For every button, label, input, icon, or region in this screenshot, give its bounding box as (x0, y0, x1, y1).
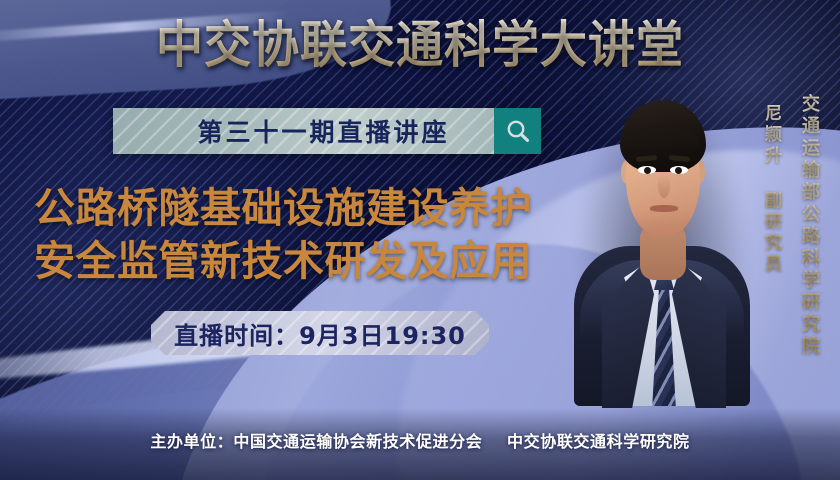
live-broadcast-poster: 中交协联交通科学大讲堂 中交协联交通科学大讲堂 第三十一期直播讲座 公路桥隧基础… (0, 0, 840, 480)
portrait-pupil-left (644, 167, 651, 174)
lecture-heading-line1: 公路桥隧基础设施建设养护 (34, 184, 532, 232)
lecture-heading: 公路桥隧基础设施建设养护 安全监管新技术研发及应用 (34, 182, 594, 288)
broadcast-time-pill: 直播时间：9月3日19:30 (151, 311, 489, 355)
episode-bar: 第三十一期直播讲座 (113, 108, 541, 154)
portrait-hair-fringe (626, 126, 700, 152)
lecture-heading-line2: 安全监管新技术研发及应用 (34, 235, 594, 288)
poster-title: 中交协联交通科学大讲堂 (0, 16, 840, 75)
speaker-name-title: 尼颖升 副研究员 (759, 104, 784, 275)
speaker-organization: 交通运输部公路科学研究院 (796, 94, 822, 358)
search-icon-tile[interactable] (494, 108, 541, 154)
speaker-portrait (574, 74, 750, 404)
portrait-nose (658, 174, 670, 198)
search-icon (505, 118, 531, 144)
episode-bar-body: 第三十一期直播讲座 (113, 108, 494, 154)
organizers-line: 主办单位：中国交通运输协会新技术促进分会 中交协联交通科学研究院 (0, 428, 840, 452)
portrait-chin-shadow (636, 210, 690, 236)
broadcast-time-label: 直播时间：9月3日19:30 (174, 316, 466, 351)
episode-label: 第三十一期直播讲座 (157, 113, 449, 149)
portrait-pupil-right (675, 167, 682, 174)
